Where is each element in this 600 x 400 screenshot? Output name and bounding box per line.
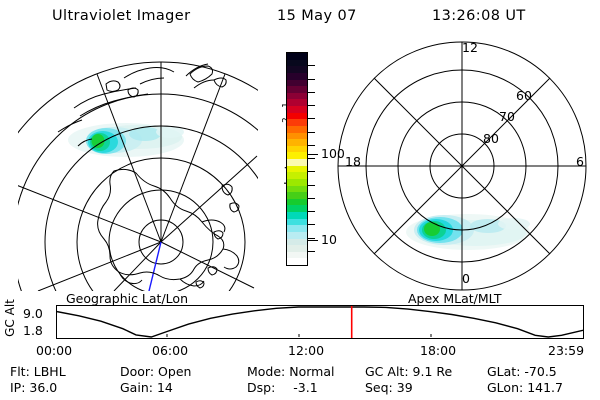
geographic-polar-plot[interactable] bbox=[18, 36, 258, 291]
mlt-hour-label-18: 18 bbox=[345, 154, 361, 169]
colorbar-band bbox=[287, 186, 307, 193]
colorbar-tick-label: 10 bbox=[321, 233, 337, 246]
status-filter-value: LBHL bbox=[34, 364, 66, 379]
orbit-xtick-0600: 06:00 bbox=[152, 343, 188, 358]
colorbar-minor-tick bbox=[308, 132, 315, 133]
colorbar-band bbox=[287, 133, 307, 140]
status-glon: GLon: 141.7 bbox=[487, 382, 563, 395]
status-door: Door: Open bbox=[120, 366, 191, 379]
mlat-ring-label-80: 80 bbox=[483, 131, 499, 146]
colorbar-band bbox=[287, 166, 307, 173]
mlat-ring-label-70: 70 bbox=[499, 109, 515, 124]
terminator-line bbox=[149, 242, 161, 291]
colorbar-band bbox=[287, 66, 307, 73]
status-gcalt: GC Alt: 9.1 Re bbox=[365, 366, 452, 379]
colorbar-band bbox=[287, 139, 307, 146]
status-mode: Mode: Normal bbox=[247, 366, 335, 379]
status-ip-label: IP: bbox=[10, 380, 25, 395]
colorbar-band bbox=[287, 152, 307, 159]
colorbar-minor-tick bbox=[308, 251, 315, 252]
aurora-emission-mlt bbox=[406, 214, 530, 250]
colorbar-major-tick bbox=[308, 240, 318, 241]
mlt-hour-label-12: 12 bbox=[462, 40, 478, 55]
colorbar-band bbox=[287, 86, 307, 93]
status-gain-label: Gain: bbox=[120, 380, 153, 395]
colorbar-major-tick bbox=[308, 154, 318, 155]
status-ip: IP: 36.0 bbox=[10, 382, 57, 395]
colorbar-minor-tick bbox=[308, 211, 315, 212]
colorbar-band bbox=[287, 146, 307, 153]
status-gcalt-label: GC Alt: bbox=[365, 364, 409, 379]
colorbar-band bbox=[287, 232, 307, 239]
colorbar-band bbox=[287, 192, 307, 199]
orbit-xtick-0000: 00:00 bbox=[36, 343, 72, 358]
aurora-emission-geo bbox=[68, 123, 184, 157]
orbit-altitude-trace bbox=[57, 307, 583, 337]
colorbar-minor-tick bbox=[308, 118, 315, 119]
colorbar-band bbox=[287, 225, 307, 232]
status-glat-value: -70.5 bbox=[524, 364, 556, 379]
orbit-ytick-low: 1.8 bbox=[23, 325, 43, 338]
status-mode-label: Mode: bbox=[247, 364, 285, 379]
status-gain-value: 14 bbox=[157, 380, 173, 395]
colorbar-minor-tick bbox=[308, 79, 315, 80]
orbit-x-axis-labels: 00:0006:0012:0018:0023:59 bbox=[0, 343, 600, 359]
colorbar-band bbox=[287, 80, 307, 87]
colorbar-band bbox=[287, 179, 307, 186]
colorbar-band bbox=[287, 126, 307, 133]
status-gain: Gain: 14 bbox=[120, 382, 173, 395]
colorbar-band bbox=[287, 252, 307, 259]
geographic-latitude-circles bbox=[18, 62, 258, 291]
orbit-x-tickmarks bbox=[167, 334, 431, 337]
colorbar-minor-tick bbox=[308, 105, 315, 106]
colorbar-minor-tick bbox=[308, 158, 315, 159]
colorbar-minor-tick bbox=[308, 65, 315, 66]
status-dsp-label: Dsp: bbox=[247, 380, 275, 395]
antarctica-coastline bbox=[98, 169, 239, 286]
observation-time: 13:26:08 UT bbox=[432, 8, 526, 24]
geographic-plot-canvas bbox=[18, 36, 258, 291]
status-ip-value: 36.0 bbox=[29, 380, 57, 395]
orbit-xtick-1200: 12:00 bbox=[288, 343, 324, 358]
status-door-value: Open bbox=[158, 364, 191, 379]
colorbar-band bbox=[287, 93, 307, 100]
status-seq: Seq: 39 bbox=[365, 382, 413, 395]
colorbar-band bbox=[287, 99, 307, 106]
orbit-y-axis-label: GC Alt bbox=[3, 295, 17, 341]
mlt-spokes bbox=[338, 42, 586, 290]
status-glon-value: 141.7 bbox=[527, 380, 563, 395]
colorbar-band bbox=[287, 212, 307, 219]
status-bar: Flt: LBHL IP: 36.0 Door: Open Gain: 14 M… bbox=[0, 364, 600, 398]
colorbar-band bbox=[287, 73, 307, 80]
status-mode-value: Normal bbox=[289, 364, 334, 379]
status-seq-label: Seq: bbox=[365, 380, 393, 395]
header-bar: Ultraviolet Imager 15 May 07 13:26:08 UT bbox=[0, 8, 600, 32]
colorbar-band bbox=[287, 60, 307, 67]
colorbar-minor-tick bbox=[308, 224, 315, 225]
status-gcalt-value: 9.1 Re bbox=[413, 364, 453, 379]
apex-mlat-mlt-plot[interactable]: 12 6 0 18 60 70 80 bbox=[336, 36, 588, 291]
colorbar-band bbox=[287, 239, 307, 246]
colorbar-band bbox=[287, 119, 307, 126]
colorbar-minor-tick bbox=[308, 145, 315, 146]
mlt-hour-label-6: 6 bbox=[576, 154, 584, 169]
colorbar[interactable]: photon cm-2s-1 10010 bbox=[258, 44, 338, 292]
status-glon-label: GLon: bbox=[487, 380, 523, 395]
status-seq-value: 39 bbox=[397, 380, 413, 395]
colorbar-minor-tick bbox=[308, 198, 315, 199]
orbit-xtick-2359: 23:59 bbox=[548, 343, 584, 358]
orbit-altitude-plot[interactable]: GC Alt 9.0 1.8 00:0006:0012:0018:0023:59 bbox=[0, 303, 600, 353]
orbit-ytick-high: 9.0 bbox=[23, 308, 43, 321]
mlat-ring-labels: 60 70 80 bbox=[483, 88, 532, 146]
mlt-hour-label-0: 0 bbox=[462, 271, 470, 286]
colorbar-band bbox=[287, 53, 307, 60]
colorbar-band bbox=[287, 258, 307, 265]
status-glat-label: GLat: bbox=[487, 364, 520, 379]
colorbar-band bbox=[287, 106, 307, 113]
colorbar-band bbox=[287, 245, 307, 252]
status-glat: GLat: -70.5 bbox=[487, 366, 557, 379]
orbit-trace-canvas bbox=[57, 306, 583, 338]
orbit-xtick-1800: 18:00 bbox=[420, 343, 456, 358]
status-filter: Flt: LBHL bbox=[10, 366, 66, 379]
colorbar-band bbox=[287, 205, 307, 212]
colorbar-band bbox=[287, 113, 307, 120]
instrument-title: Ultraviolet Imager bbox=[52, 8, 190, 24]
colorbar-minor-tick bbox=[308, 185, 315, 186]
colorbar-minor-tick bbox=[308, 92, 315, 93]
observation-date: 15 May 07 bbox=[277, 8, 357, 24]
colorbar-band bbox=[287, 199, 307, 206]
status-door-label: Door: bbox=[120, 364, 154, 379]
status-dsp-value: -3.1 bbox=[293, 380, 317, 395]
mlt-plot-canvas: 12 6 0 18 60 70 80 bbox=[336, 36, 588, 291]
status-dsp: Dsp: -3.1 bbox=[247, 382, 318, 395]
orbit-plot-frame[interactable] bbox=[56, 305, 584, 339]
colorbar-band bbox=[287, 219, 307, 226]
colorbar-band bbox=[287, 159, 307, 166]
colorbar-band bbox=[287, 172, 307, 179]
colorbar-gradient-strip[interactable] bbox=[286, 52, 308, 266]
colorbar-minor-tick bbox=[308, 238, 315, 239]
colorbar-minor-tick bbox=[308, 171, 315, 172]
status-filter-label: Flt: bbox=[10, 364, 30, 379]
mlat-ring-label-60: 60 bbox=[516, 88, 532, 103]
